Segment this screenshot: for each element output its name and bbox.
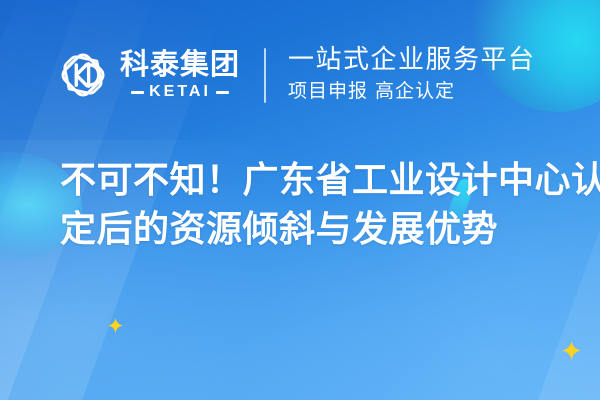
brand-name-cn: 科泰集团 <box>120 50 240 79</box>
brand-logo[interactable]: 科泰集团 KETAI <box>55 47 240 103</box>
vertical-divider-icon <box>264 48 266 103</box>
promo-banner: 科泰集团 KETAI 一站式企业服务平台 项目申报 高企认定 不可不知！广东省工… <box>0 0 600 400</box>
sparkle-left-icon <box>108 318 123 333</box>
sparkle-right-icon <box>562 341 581 360</box>
wordmark-rule-left-icon <box>131 91 144 94</box>
headline-line-2: 定后的资源倾斜与发展优势 <box>60 205 570 254</box>
tagline-secondary: 项目申报 高企认定 <box>288 80 536 104</box>
brand-name-en-row: KETAI <box>131 84 229 100</box>
banner-header: 科泰集团 KETAI 一站式企业服务平台 项目申报 高企认定 <box>0 36 600 114</box>
headline-block: 不可不知！广东省工业设计中心认 定后的资源倾斜与发展优势 <box>60 156 570 254</box>
brand-wordmark: 科泰集团 KETAI <box>120 50 240 100</box>
brand-name-en: KETAI <box>149 84 211 100</box>
brand-tagline: 一站式企业服务平台 项目申报 高企认定 <box>288 46 536 104</box>
wordmark-rule-right-icon <box>216 91 229 94</box>
headline-line-1: 不可不知！广东省工业设计中心认 <box>60 156 570 205</box>
tagline-primary: 一站式企业服务平台 <box>288 46 536 75</box>
ketai-diamond-kd-logo-icon <box>55 47 111 103</box>
